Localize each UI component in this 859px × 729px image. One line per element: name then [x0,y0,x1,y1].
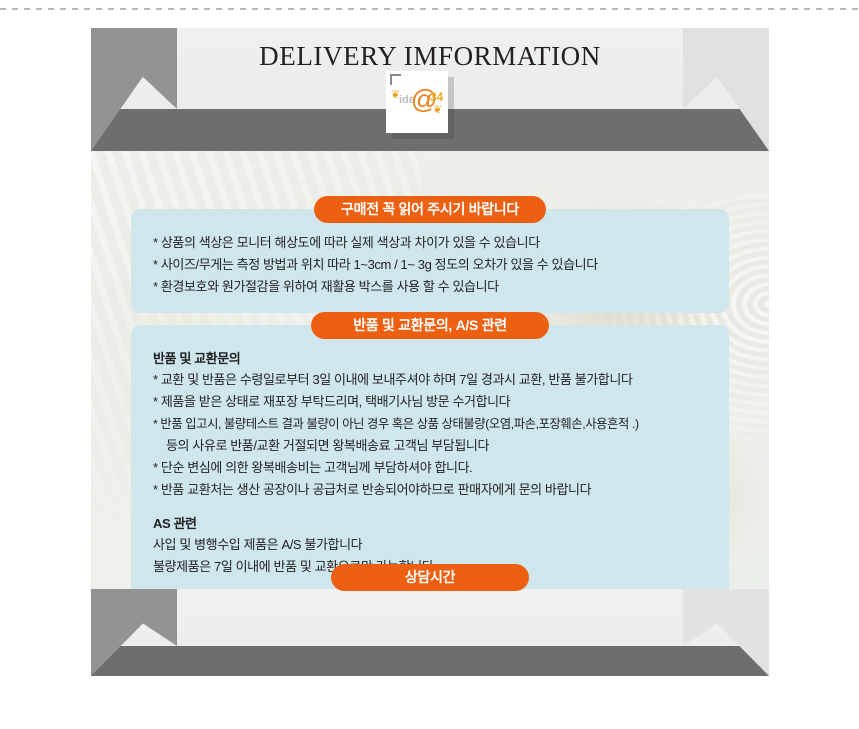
footer-ribbon-left-wedge-upper [91,589,177,646]
returns-line: * 반품 교환처는 생산 공장이나 공급처로 반송되어야하므로 판매자에게 문의… [153,480,707,500]
logo-text-34: 34 [430,90,443,104]
broken-image-logo-placeholder: ❦ ❦ ide @ 34 [386,71,448,133]
returns-line: * 단순 변심에 의한 왕복배송비는 고객님께 부담하셔야 합니다. [153,458,707,478]
section-returns-exchange-as: 반품 및 교환문의, A/S 관련 반품 및 교환문의 * 교환 및 반품은 수… [131,312,729,601]
as-line: 사입 및 병행수입 제품은 A/S 불가합니다 [153,535,707,555]
section-read-before-purchase: 구매전 꼭 읽어 주시기 바랍니다 * 상품의 색상은 모니터 해상도에 따라 … [131,196,729,313]
top-dashed-divider [0,8,859,10]
notice-line: * 상품의 색상은 모니터 해상도에 따라 실제 색상과 차이가 있을 수 있습… [153,233,707,253]
returns-line: * 제품을 받은 상태로 재포장 부탁드리며, 택배기사님 방문 수거합니다 [153,392,707,412]
broken-image-corner-marker [390,74,401,85]
returns-line: * 반품 입고시, 불량테스트 결과 불량이 아닌 경우 혹은 상품 상태불량(… [153,414,707,434]
panel-returns-exchange-as: 반품 및 교환문의 * 교환 및 반품은 수령일로부터 3일 이내에 보내주셔야… [131,325,729,601]
footer-ribbon-right-wedge-upper [683,589,769,646]
panel-read-before-purchase: * 상품의 색상은 모니터 해상도에 따라 실제 색상과 차이가 있을 수 있습… [131,209,729,313]
as-heading: AS 관련 [153,514,707,534]
logo-graphic: ❦ ❦ ide @ 34 [386,85,448,119]
returns-heading: 반품 및 교환문의 [153,349,707,369]
notice-line: * 환경보호와 원가절감을 위하여 재활용 박스를 사용 할 수 있습니다 [153,277,707,297]
page-title: DELIVERY IMFORMATION [91,41,769,72]
delivery-information-page: DELIVERY IMFORMATION ❦ ❦ ide @ 34 구매전 꼭 … [91,28,769,676]
returns-line: * 교환 및 반품은 수령일로부터 3일 이내에 보내주셔야 하며 7일 경과시… [153,370,707,390]
banner-returns-exchange-as: 반품 및 교환문의, A/S 관련 [311,312,549,339]
returns-line-continued: 등의 사유로 반품/교환 거절되면 왕복배송료 고객님 부담됩니다 [153,436,707,456]
footer-ribbon [91,589,769,676]
banner-read-before-purchase: 구매전 꼭 읽어 주시기 바랍니다 [314,196,546,223]
notice-line: * 사이즈/무게는 측정 방법과 위치 따라 1~3cm / 1~ 3g 정도의… [153,255,707,275]
banner-consultation-hours: 상담시간 [331,564,529,591]
footer-ribbon-dark-band [91,646,769,676]
